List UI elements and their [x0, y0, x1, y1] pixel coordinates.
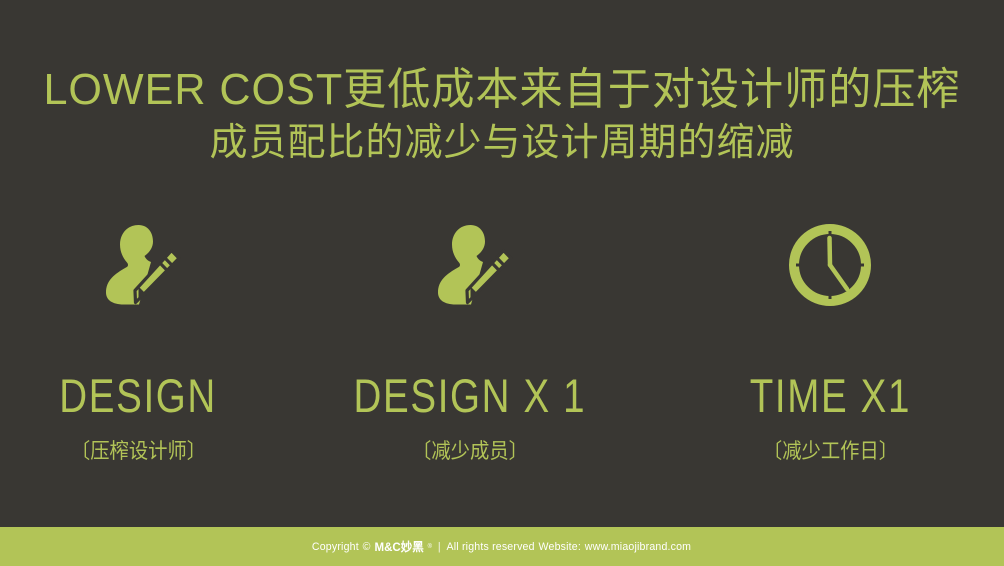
- column-label-sub: 〔减少工作日〕: [762, 441, 897, 462]
- column-label-main: DESIGN X 1: [354, 372, 587, 419]
- copyright-icon: ©: [363, 541, 371, 553]
- feature-column-design: DESIGN 〔压榨设计师〕: [0, 222, 312, 462]
- person-pencil-icon: [93, 222, 183, 314]
- headline-line-2: 成员配比的减少与设计周期的缩减: [0, 124, 1004, 162]
- column-label-main: DESIGN: [59, 372, 217, 419]
- slide-canvas: LOWER COST更低成本来自于对设计师的压榨 成员配比的减少与设计周期的缩减: [0, 0, 1004, 566]
- column-label-main: TIME X1: [749, 372, 910, 419]
- trademark-icon: ®: [428, 544, 432, 550]
- footer-credit: Copyright © M&C妙黑 ® | All rights reserve…: [312, 538, 691, 555]
- feature-column-design-x1: DESIGN X 1 〔减少成员〕: [296, 222, 644, 462]
- clock-icon: [786, 222, 874, 314]
- brand-logo: M&C妙黑: [375, 538, 424, 555]
- footer-website-url[interactable]: www.miaojibrand.com: [585, 541, 691, 553]
- column-label-sub: 〔减少成员〕: [412, 441, 528, 462]
- footer-separator: |: [436, 541, 443, 553]
- page-title: LOWER COST更低成本来自于对设计师的压榨 成员配比的减少与设计周期的缩减: [0, 68, 1004, 162]
- person-pencil-icon: [425, 222, 515, 314]
- footer-bar: Copyright © M&C妙黑 ® | All rights reserve…: [0, 527, 1004, 566]
- column-label-sub: 〔压榨设计师〕: [70, 441, 205, 462]
- feature-column-time-x1: TIME X1 〔减少工作日〕: [656, 222, 1004, 462]
- footer-website-label: Website:: [539, 541, 581, 553]
- headline-line-1: LOWER COST更低成本来自于对设计师的压榨: [10, 68, 994, 112]
- footer-rights: All rights reserved: [447, 541, 535, 553]
- footer-copyright-label: Copyright: [312, 541, 359, 553]
- feature-columns: DESIGN 〔压榨设计师〕 DESIGN X 1: [0, 222, 1004, 482]
